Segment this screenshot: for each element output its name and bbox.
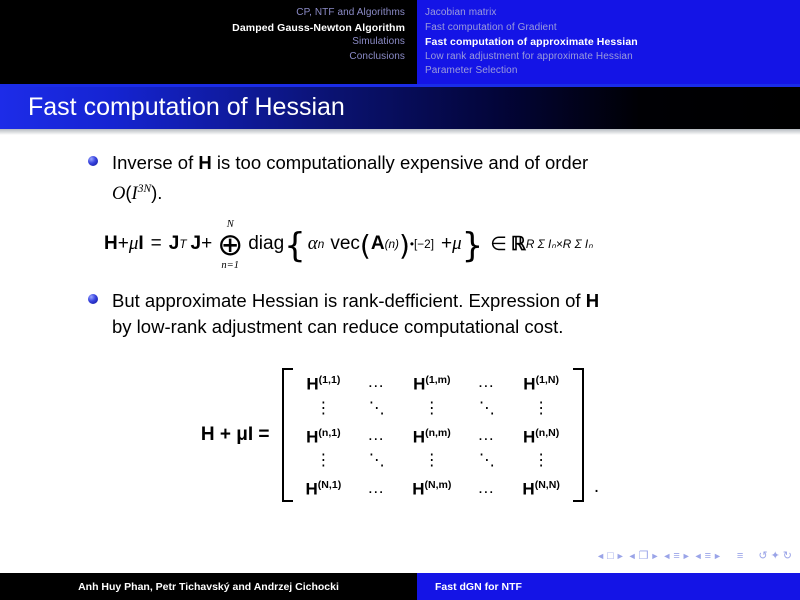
subsection-navigation: Jacobian matrix Fast computation of Grad… <box>417 0 800 84</box>
matrix-cell-N-N: H(N,N) <box>509 473 572 502</box>
matrix-hdots-4: … <box>464 421 509 450</box>
cell-sup: (n,1) <box>318 427 340 439</box>
search-icon[interactable]: ✦ <box>771 551 780 562</box>
back-icon[interactable]: ↺ <box>758 551 767 562</box>
matrix-cell-N-m: H(N,m) <box>399 473 464 502</box>
eq1-plus1: + <box>118 233 129 255</box>
nav-slide-group: ◄ □ ► <box>596 551 625 562</box>
bullet-item-2: But approximate Hessian is rank-defficie… <box>88 288 748 340</box>
matrix-cell-1-m: H(1,m) <box>399 368 464 397</box>
bullet-1-part-b: is too computationally expensive and of … <box>212 152 588 173</box>
cell-sup: (1,N) <box>536 374 559 386</box>
nav-frame-group: ◄ ❐ ► <box>628 551 660 562</box>
forward-icon[interactable]: ↻ <box>783 551 792 562</box>
previous-section-icon[interactable]: ◄ <box>694 552 703 561</box>
bullet-ball-icon <box>88 156 98 166</box>
eq1-matrix-a: A <box>371 233 385 255</box>
slide-icon[interactable]: □ <box>607 551 614 562</box>
cell-sup: (N,m) <box>424 479 451 491</box>
eq1-identity: I <box>138 233 143 255</box>
eq1-plus3: + <box>441 233 452 255</box>
bullet-1-text: Inverse of H is too computationally expe… <box>112 150 588 207</box>
matrix-ddots: ⋱ <box>354 397 399 421</box>
eq1-transpose-sup: T <box>179 238 186 251</box>
matrix-ddots: ⋱ <box>464 449 509 473</box>
nav-subsection-fast-computation-of-gradient[interactable]: Fast computation of Gradient <box>425 21 800 36</box>
eq1-hadamard-exponent: •[−2] <box>410 238 434 251</box>
matrix-bracket-right <box>573 368 584 502</box>
matrix-cell-1-1: H(1,1) <box>293 368 355 397</box>
cell-sup: (1,1) <box>319 374 341 386</box>
cell-base: H <box>306 427 318 446</box>
matrix-ddots: ⋱ <box>464 397 509 421</box>
nav-subsection-low-rank-adjustment[interactable]: Low rank adjustment for approximate Hess… <box>425 50 800 65</box>
matrix-cell-N-1: H(N,1) <box>293 473 355 502</box>
circled-plus-icon: ⊕ <box>217 230 243 260</box>
subsection-icon[interactable]: ≡ <box>673 551 679 562</box>
slide-title-bar: Fast computation of Hessian <box>0 84 800 129</box>
nav-subsection-jacobian-matrix[interactable]: Jacobian matrix <box>425 6 800 21</box>
nav-subsection-fast-computation-of-approximate-hessian[interactable]: Fast computation of approximate Hessian <box>425 35 800 50</box>
matrix-vdots: ⋮ <box>293 397 355 421</box>
cell-base: H <box>306 480 318 499</box>
matrix-hdots-1: … <box>354 368 399 397</box>
eq1-mu2: μ <box>452 233 462 255</box>
matrix-row-dots-1: ⋮ ⋱ ⋮ ⋱ ⋮ <box>293 397 573 421</box>
eq1-h: H <box>104 233 118 255</box>
eq1-j: J <box>191 233 202 255</box>
cell-sup: (N,1) <box>318 479 341 491</box>
matrix-vdots: ⋮ <box>293 449 355 473</box>
equation-hessian-plus-mu-identity: H+μI = JT J+ N ⊕ n=1 diag{ αn vec(A(n))•… <box>104 218 744 270</box>
nav-section-cp-ntf-and-algorithms[interactable]: CP, NTF and Algorithms <box>0 6 405 21</box>
eq1-dimension: R Σ Iₙ×R Σ Iₙ <box>526 237 593 251</box>
eq1-matrix-a-superscript: (n) <box>385 238 399 251</box>
equation-block-hessian-matrix: H + μI = H(1,1) … H(1,m) … H(1,N) ⋮ ⋱ ⋮ <box>0 368 800 502</box>
slide-footer: Anh Huy Phan, Petr Tichavský and Andrzej… <box>0 573 800 600</box>
eq1-mu: μ <box>129 233 139 255</box>
matrix-cell-1-N: H(1,N) <box>509 368 572 397</box>
eq1-vec: vec <box>330 233 360 255</box>
eq1-real-numbers: ℝ <box>511 233 526 256</box>
cell-base: H <box>413 427 425 446</box>
cell-base: H <box>523 375 535 394</box>
eq1-alpha-subscript: n <box>318 238 325 251</box>
next-frame-icon[interactable]: ► <box>650 552 659 561</box>
eq1-diag: diag <box>248 233 284 255</box>
matrix-hdots-5: … <box>354 473 399 502</box>
next-subsection-icon[interactable]: ► <box>682 552 691 561</box>
matrix-hdots-2: … <box>464 368 509 397</box>
next-slide-icon[interactable]: ► <box>616 552 625 561</box>
matrix-cell-n-m: H(n,m) <box>399 421 464 450</box>
eq1-j-transpose: J <box>169 233 180 255</box>
matrix-vdots: ⋮ <box>399 449 464 473</box>
bullet-2-part-a: But approximate Hessian is rank-defficie… <box>112 290 586 311</box>
section-icon[interactable]: ≡ <box>705 551 711 562</box>
section-navigation: CP, NTF and Algorithms Damped Gauss-Newt… <box>0 0 417 84</box>
frame-icon[interactable]: ❐ <box>639 551 649 562</box>
matrix-row-1: H(1,1) … H(1,m) … H(1,N) <box>293 368 573 397</box>
hessian-block-matrix: H(1,1) … H(1,m) … H(1,N) ⋮ ⋱ ⋮ ⋱ ⋮ <box>293 368 573 502</box>
eq1-element-of: ∈ <box>490 233 507 256</box>
bullet-2-symbol-h: H <box>586 290 599 311</box>
footer-authors: Anh Huy Phan, Petr Tichavský and Andrzej… <box>0 573 417 600</box>
cell-base: H <box>522 480 534 499</box>
cell-sup: (n,N) <box>535 427 559 439</box>
document-icon[interactable]: ≡ <box>737 551 743 562</box>
beamer-navigation-symbols: ◄ □ ► ◄ ❐ ► ◄ ≡ ► ◄ ≡ ► ≡ ↺ ✦ ↻ <box>596 551 792 562</box>
nav-section-group: ◄ ≡ ► <box>694 551 722 562</box>
matrix-cell-n-N: H(n,N) <box>509 421 572 450</box>
cell-base: H <box>523 427 535 446</box>
nav-section-damped-gauss-newton-algorithm[interactable]: Damped Gauss-Newton Algorithm <box>0 21 405 36</box>
matrix-bracket-left <box>282 368 293 502</box>
bullet-1-symbol-h: H <box>198 152 211 173</box>
matrix-cell-n-1: H(n,1) <box>293 421 355 450</box>
nav-subsection-group: ◄ ≡ ► <box>662 551 690 562</box>
eq1-plus2: + <box>201 233 212 255</box>
cell-base: H <box>412 480 424 499</box>
bullet-1-order-period: . <box>157 182 162 203</box>
matrix-ddots: ⋱ <box>354 449 399 473</box>
matrix-hdots-6: … <box>464 473 509 502</box>
nav-section-simulations[interactable]: Simulations <box>0 35 405 50</box>
page-title: Fast computation of Hessian <box>28 92 345 122</box>
eq1-equals: = <box>151 233 162 255</box>
bullet-2-text: But approximate Hessian is rank-defficie… <box>112 288 599 340</box>
header-navigation-bar: CP, NTF and Algorithms Damped Gauss-Newt… <box>0 0 800 84</box>
slide-body: Inverse of H is too computationally expe… <box>0 140 800 560</box>
bullet-ball-icon <box>88 294 98 304</box>
bullet-1-order-exponent: 3N <box>138 183 151 195</box>
matrix-row-dots-2: ⋮ ⋱ ⋮ ⋱ ⋮ <box>293 449 573 473</box>
matrix-hdots-3: … <box>354 421 399 450</box>
next-section-icon[interactable]: ► <box>713 552 722 561</box>
matrix-lhs-label: H + μI = <box>201 424 270 446</box>
matrix-vdots: ⋮ <box>509 397 572 421</box>
cell-sup: (N,N) <box>535 479 560 491</box>
matrix-vdots: ⋮ <box>509 449 572 473</box>
eq1-direct-sum-operator: N ⊕ n=1 <box>217 219 243 271</box>
bullet-item-1: Inverse of H is too computationally expe… <box>88 150 748 207</box>
previous-frame-icon[interactable]: ◄ <box>628 552 637 561</box>
previous-slide-icon[interactable]: ◄ <box>596 552 605 561</box>
eq1-alpha: α <box>308 233 318 255</box>
eq1-direct-sum-lower-limit: n=1 <box>221 260 239 271</box>
cell-base: H <box>306 375 318 394</box>
nav-section-conclusions[interactable]: Conclusions <box>0 50 405 65</box>
footer-short-title: Fast dGN for NTF <box>417 573 800 600</box>
cell-sup: (1,m) <box>425 374 450 386</box>
cell-sup: (n,m) <box>425 427 451 439</box>
bullet-1-order-o: O <box>112 184 125 204</box>
bullet-1-part-a: Inverse of <box>112 152 198 173</box>
cell-base: H <box>413 375 425 394</box>
previous-subsection-icon[interactable]: ◄ <box>662 552 671 561</box>
matrix-row-N: H(N,1) … H(N,m) … H(N,N) <box>293 473 573 502</box>
matrix-trailing-period: . <box>594 476 599 502</box>
slide-root: CP, NTF and Algorithms Damped Gauss-Newt… <box>0 0 800 600</box>
matrix-vdots: ⋮ <box>399 397 464 421</box>
nav-subsection-parameter-selection[interactable]: Parameter Selection <box>425 64 800 79</box>
bullet-2-line-2: by low-rank adjustment can reduce comput… <box>112 316 563 337</box>
matrix-row-n: H(n,1) … H(n,m) … H(n,N) <box>293 421 573 450</box>
title-bar-shadow <box>0 129 800 135</box>
